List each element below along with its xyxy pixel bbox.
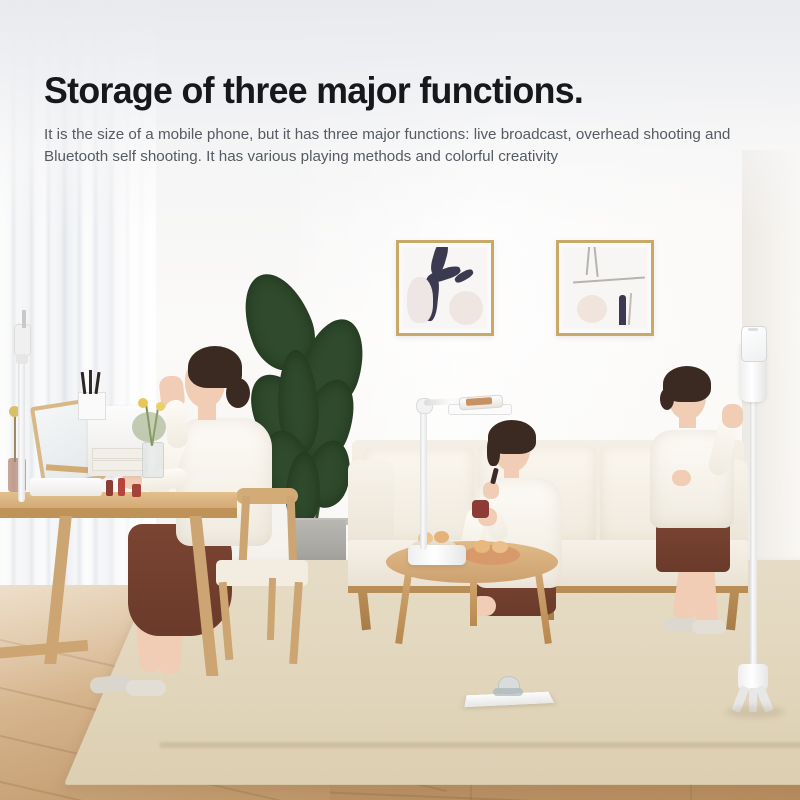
tripod-shadow xyxy=(726,706,784,718)
organizer-drawer xyxy=(92,460,146,471)
stand-bracket xyxy=(22,310,26,328)
art-wash xyxy=(407,277,433,323)
art-wash xyxy=(577,295,607,323)
art-shape xyxy=(619,295,626,325)
pastry xyxy=(492,541,508,553)
rug-edge xyxy=(160,742,800,748)
art-line xyxy=(573,276,645,283)
page-title: Storage of three major functions. xyxy=(44,72,720,111)
hand-resting xyxy=(672,470,691,486)
forearm-raised xyxy=(164,399,188,448)
header-text-block: Storage of three major functions. It is … xyxy=(44,72,744,169)
organizer-drawer xyxy=(92,448,146,459)
cosmetic-product xyxy=(472,500,489,518)
framed-art-left xyxy=(396,240,494,336)
slipper xyxy=(692,620,726,634)
brush-holder xyxy=(78,392,106,420)
hair-side xyxy=(487,436,500,466)
arm-vertical-post xyxy=(420,404,427,550)
flower-vase xyxy=(142,442,164,478)
art-canvas-right xyxy=(563,247,647,329)
slipper xyxy=(126,680,166,696)
makeup-brush xyxy=(89,370,92,394)
white-tray xyxy=(30,478,102,496)
art-wash xyxy=(449,291,483,325)
phone-on-tripod xyxy=(741,326,767,362)
hair-ponytail xyxy=(226,378,250,408)
glass-base xyxy=(493,688,523,696)
flower-bloom xyxy=(156,402,165,411)
pastry xyxy=(474,540,490,553)
cosmetic-bottle xyxy=(132,484,141,497)
art-line xyxy=(586,247,590,275)
stand-clamp-head xyxy=(14,324,31,356)
hand-raised xyxy=(483,482,499,499)
arm-base xyxy=(408,545,466,565)
lipstick xyxy=(106,480,113,496)
dried-flower-stem xyxy=(14,412,16,462)
hair-bun xyxy=(660,388,674,410)
flower-leaves xyxy=(132,412,166,442)
art-line xyxy=(628,293,632,325)
banner-root: Storage of three major functions. It is … xyxy=(0,0,800,800)
lipstick xyxy=(118,478,125,496)
art-canvas-left xyxy=(403,247,487,329)
hand-waving xyxy=(722,404,743,428)
art-line xyxy=(593,247,598,277)
phone-notch xyxy=(748,328,758,331)
framed-art-right xyxy=(556,240,654,336)
page-subtitle: It is the size of a mobile phone, but it… xyxy=(44,124,734,169)
stand-knob xyxy=(16,354,28,364)
flower-bloom xyxy=(138,398,148,408)
pastry xyxy=(434,531,449,543)
